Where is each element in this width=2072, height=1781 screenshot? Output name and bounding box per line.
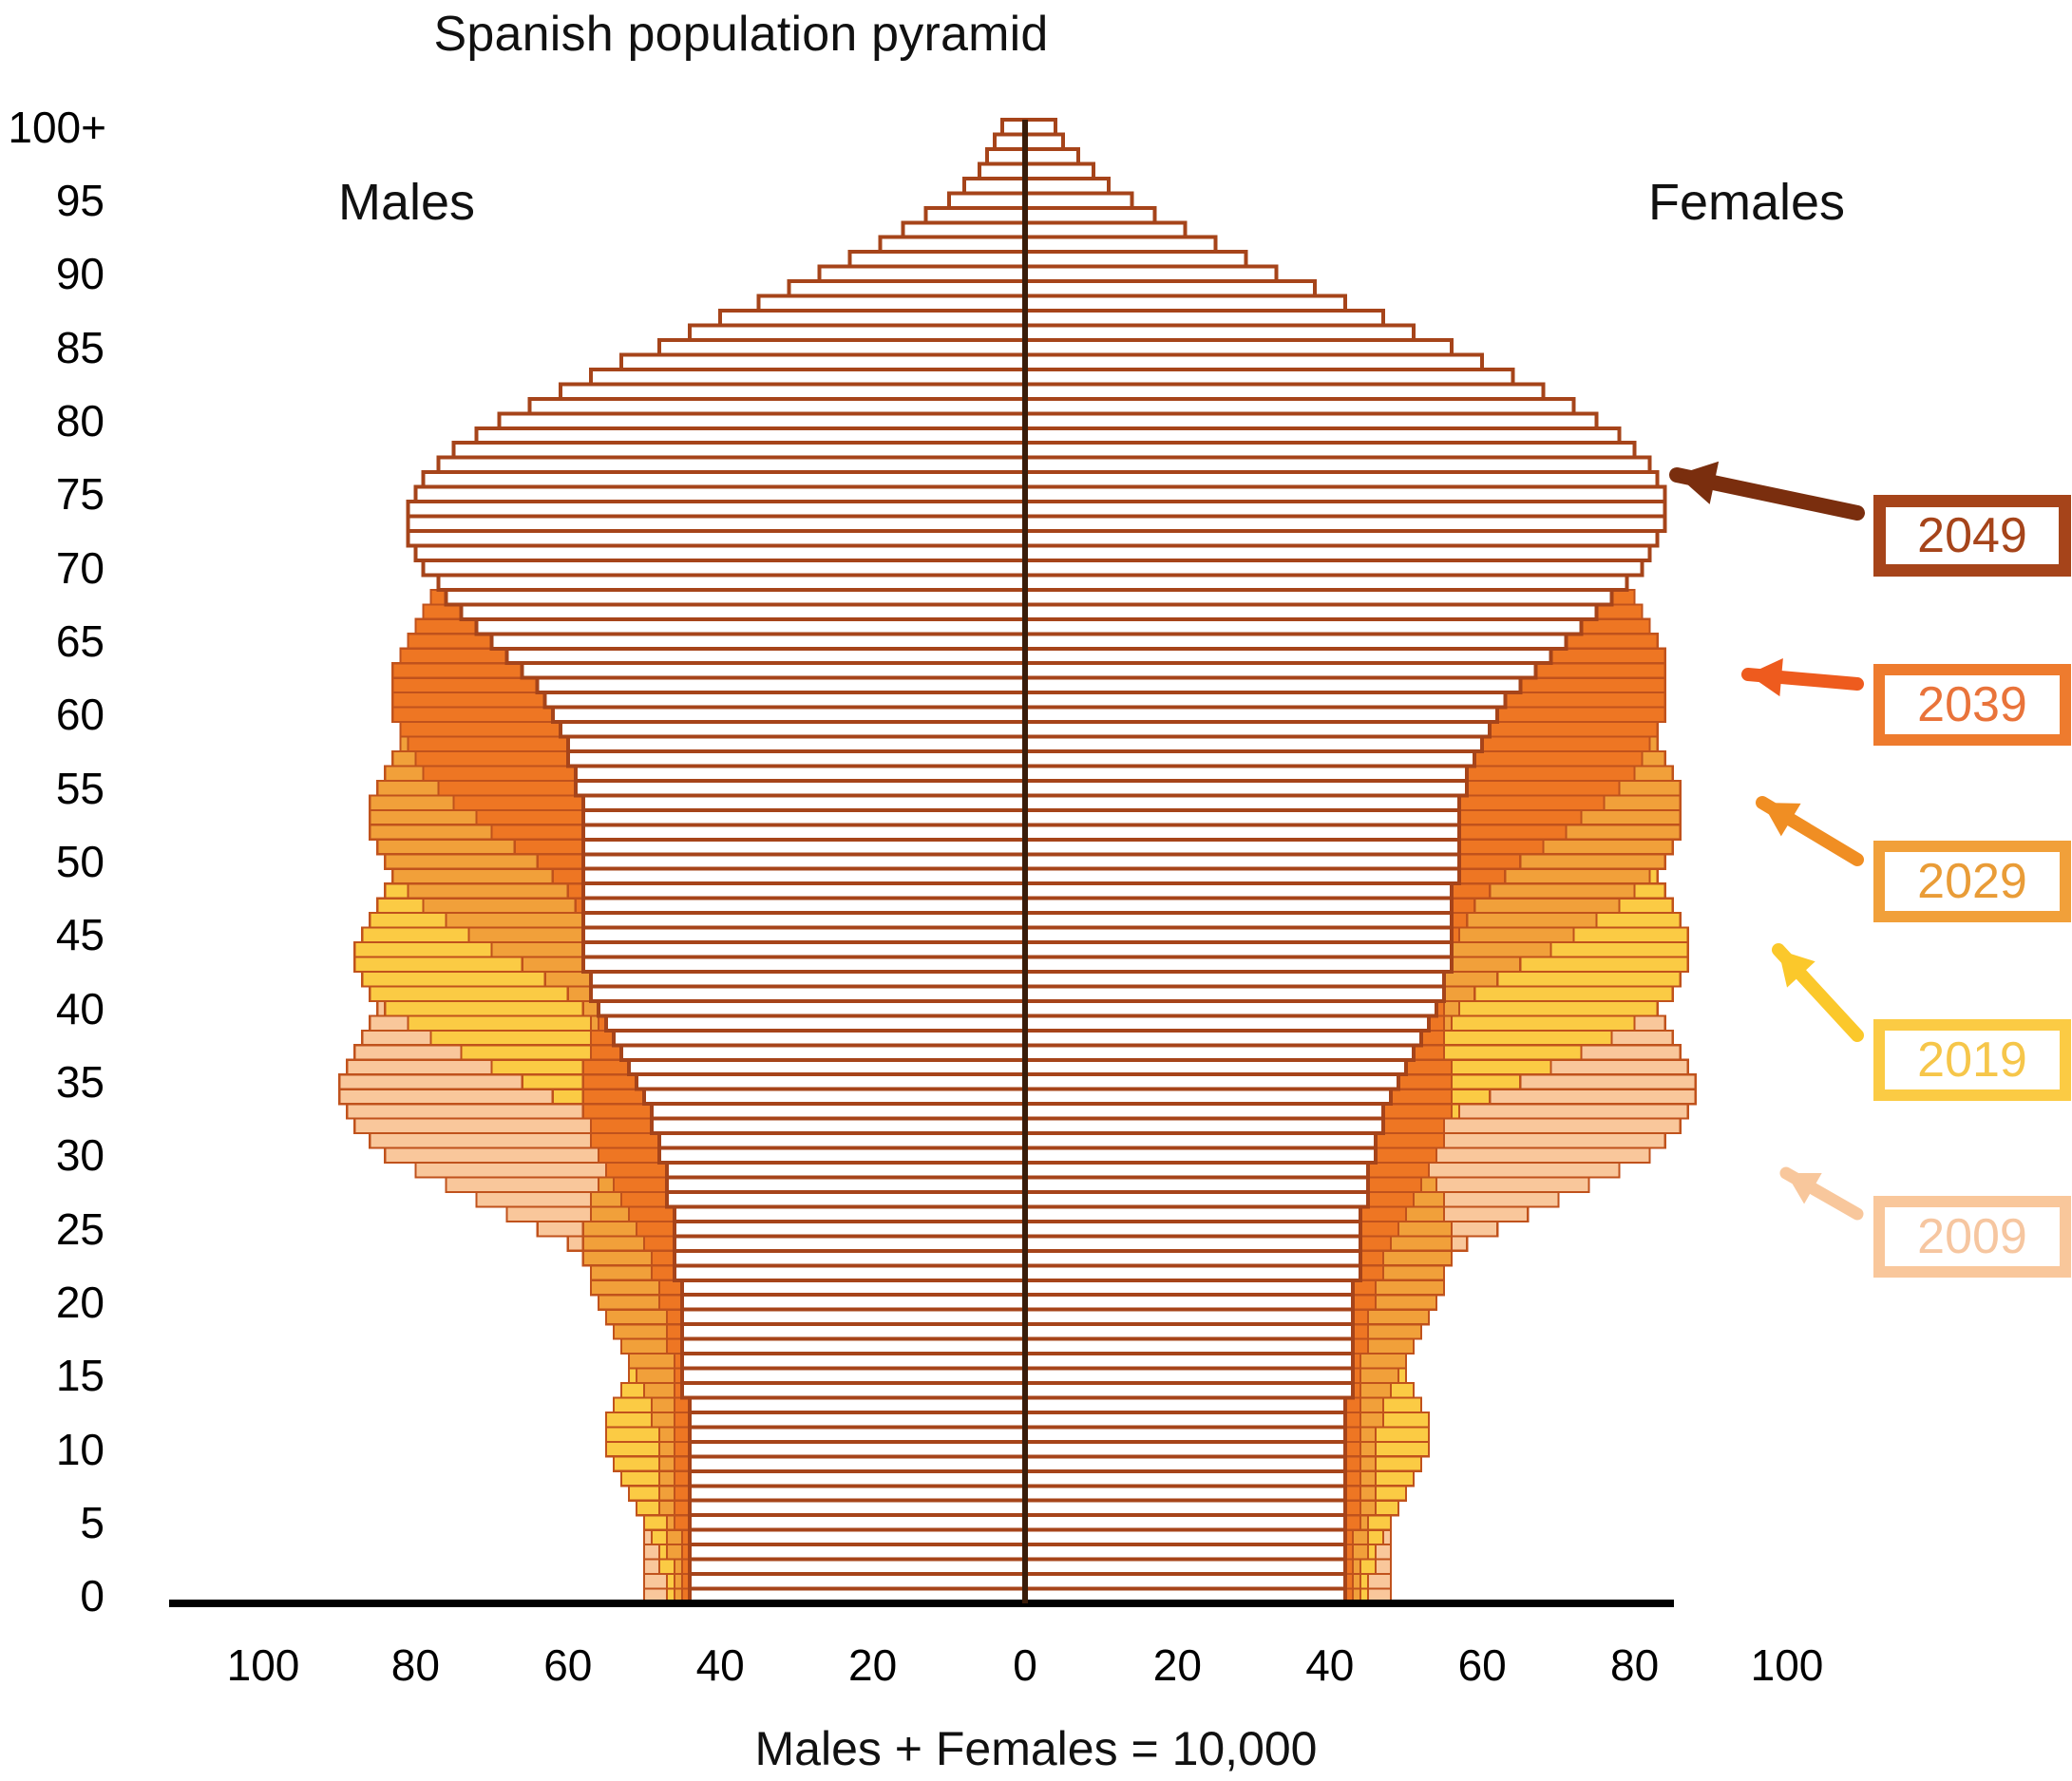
x-tick-40-right: 40: [1254, 1643, 1406, 1687]
legend-item-2039[interactable]: 2039: [1873, 664, 2071, 746]
y-tick-10: 10: [0, 1428, 105, 1471]
y-tick-35: 35: [0, 1060, 105, 1104]
x-tick-100-left: 100: [187, 1643, 339, 1687]
y-tick-5: 5: [0, 1501, 105, 1544]
arrow-2039: [1748, 658, 1857, 696]
y-tick-15: 15: [0, 1354, 105, 1397]
y-tick-40: 40: [0, 987, 105, 1031]
arrow-2049: [1677, 462, 1857, 513]
y-tick-60: 60: [0, 692, 105, 736]
x-tick-20-right: 20: [1101, 1643, 1253, 1687]
y-tick-45: 45: [0, 913, 105, 957]
y-tick-20: 20: [0, 1280, 105, 1324]
y-tick-70: 70: [0, 546, 105, 590]
arrow-2019: [1778, 950, 1857, 1035]
x-tick-80-left: 80: [339, 1643, 491, 1687]
y-tick-65: 65: [0, 619, 105, 663]
y-tick-50: 50: [0, 840, 105, 883]
arrow-2009: [1786, 1173, 1857, 1214]
legend-item-2009[interactable]: 2009: [1873, 1196, 2071, 1278]
x-tick-20-left: 20: [797, 1643, 949, 1687]
legend-item-2029[interactable]: 2029: [1873, 841, 2071, 922]
pyramid-plot-area: [0, 0, 2072, 1781]
y-tick-95: 95: [0, 179, 105, 222]
y-tick-75: 75: [0, 472, 105, 516]
legend-item-2049[interactable]: 2049: [1873, 495, 2071, 577]
chart-caption: Males + Females = 10,000: [0, 1721, 2072, 1776]
x-tick-80-right: 80: [1559, 1643, 1711, 1687]
y-tick-25: 25: [0, 1207, 105, 1251]
x-tick-60-right: 60: [1406, 1643, 1558, 1687]
x-tick-40-left: 40: [644, 1643, 796, 1687]
y-tick-85: 85: [0, 326, 105, 369]
x-tick-60-left: 60: [492, 1643, 644, 1687]
y-tick-30: 30: [0, 1133, 105, 1177]
pyramid-series-layer: [339, 120, 1696, 1603]
population-pyramid-chart: 0510152025303540455055606570758085909510…: [0, 0, 2072, 1781]
y-tick-100plus: 100+: [0, 105, 106, 149]
x-tick-0: 0: [949, 1643, 1101, 1687]
legend-arrows: [1677, 462, 1857, 1214]
y-tick-90: 90: [0, 252, 105, 295]
y-tick-0: 0: [0, 1574, 105, 1618]
legend-item-2019[interactable]: 2019: [1873, 1019, 2071, 1101]
y-tick-80: 80: [0, 399, 105, 443]
arrow-2029: [1762, 803, 1857, 860]
y-tick-55: 55: [0, 767, 105, 810]
x-tick-100-right: 100: [1711, 1643, 1863, 1687]
